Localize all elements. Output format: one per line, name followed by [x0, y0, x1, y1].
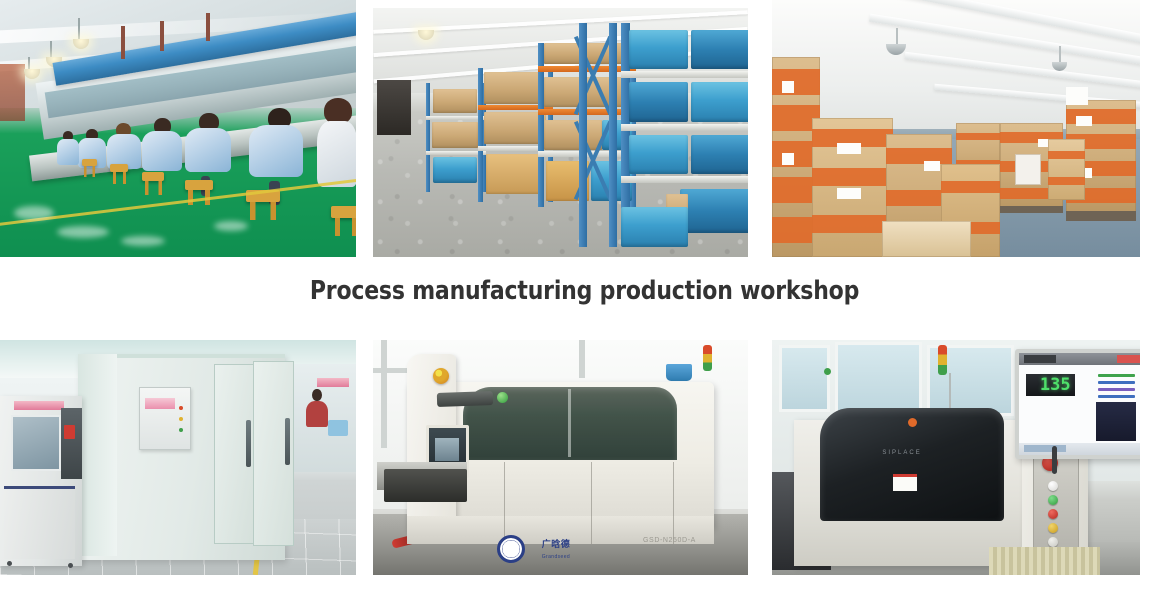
manufacturer-name-cn: 广晗德: [542, 537, 571, 550]
floor-tote: [621, 207, 689, 247]
worker: [57, 131, 79, 167]
floor-reflection: [57, 226, 109, 238]
worker: [317, 98, 356, 186]
board-conveyor: [989, 547, 1099, 575]
photo-test-chambers: [0, 340, 356, 575]
title-bar-alert: [1117, 355, 1139, 363]
pallet: [1000, 206, 1063, 214]
white-carton: [1015, 154, 1041, 185]
floor-reflection: [14, 206, 54, 220]
alarm-led: [179, 417, 183, 421]
stool: [110, 164, 128, 172]
white-button[interactable]: [1048, 481, 1058, 491]
floor-reflection: [121, 236, 165, 246]
blue-container: [666, 364, 692, 381]
power-led: [179, 406, 183, 410]
photo-smt-placement: SIPLACE 135: [772, 340, 1140, 575]
floor-reflection: [214, 221, 248, 231]
caster-wheel: [68, 563, 73, 568]
panel-label: [145, 398, 175, 409]
support-post: [121, 26, 125, 59]
preview-panel: [1096, 402, 1135, 441]
chamber-lower-door: [4, 486, 75, 560]
indicator-lamp: [824, 368, 831, 375]
blue-bin: [328, 420, 348, 436]
title-bar-field: [1024, 355, 1056, 363]
hood-seam: [568, 389, 571, 457]
monitor-stand: [1052, 446, 1057, 474]
numeric-readout-box: 135: [1026, 374, 1074, 396]
operator-monitor: 135: [1015, 349, 1140, 458]
carton-stack-front: [812, 118, 893, 257]
far-doorway: [377, 80, 411, 135]
door-handle[interactable]: [285, 418, 290, 465]
photo-rack-warehouse: [373, 8, 748, 257]
monitor-screen[interactable]: 135: [1019, 353, 1140, 454]
status-indicator-bars: [1098, 374, 1135, 398]
start-button[interactable]: [497, 392, 508, 403]
pallet-rack: [426, 83, 486, 193]
run-led: [179, 428, 183, 432]
photo-wave-solder: 广晗德 Grandseed GSD-N250D-A: [373, 340, 748, 575]
door-seam: [591, 462, 592, 544]
stool: [185, 180, 213, 190]
chamber-view-window: [11, 415, 61, 471]
controller-button[interactable]: [64, 425, 75, 439]
status-tower-light: [938, 345, 947, 375]
window: [779, 345, 829, 412]
chamber-controller[interactable]: [61, 408, 82, 479]
worker: [185, 113, 231, 179]
photo-carton-warehouse: [772, 0, 1140, 257]
door-seam: [504, 462, 505, 544]
stool: [331, 206, 356, 218]
pallet: [1066, 211, 1136, 221]
door-handle[interactable]: [246, 420, 251, 467]
machine-model-label: GSD-N250D-A: [643, 537, 696, 544]
carton-flat: [882, 221, 970, 257]
numeric-readout-value: 135: [1040, 375, 1071, 395]
worker: [249, 108, 303, 184]
taskbar[interactable]: [1019, 443, 1140, 455]
app-title-bar: [1019, 353, 1140, 364]
stool: [142, 172, 164, 181]
orange-knob[interactable]: [908, 418, 917, 427]
chamber-side-face: [78, 354, 117, 556]
worker: [142, 118, 182, 176]
lamp-rod: [78, 18, 80, 41]
chamber-nameplate: [14, 401, 64, 410]
warning-label: [893, 474, 917, 491]
far-wall: [0, 64, 25, 121]
wall-notice: [317, 378, 349, 387]
support-post: [206, 13, 210, 41]
window-frame: [579, 340, 585, 378]
manufacturer-name-en: Grandseed: [542, 554, 570, 560]
door-seam: [673, 462, 674, 544]
photo-assembly-line: [0, 0, 356, 257]
support-post: [160, 21, 164, 52]
manufacturer-logo-icon: [497, 535, 525, 563]
button-strip[interactable]: [437, 391, 494, 407]
machine-brand-label: SIPLACE: [882, 450, 921, 456]
conveyor-mechanism: [384, 469, 467, 502]
window-frame: [381, 340, 387, 448]
caster-wheel: [7, 561, 12, 566]
stool: [82, 159, 97, 166]
stack-label: [1066, 87, 1088, 105]
carton-stack: [1048, 139, 1085, 201]
status-tower-light: [703, 345, 712, 371]
chamber-control-box: [139, 387, 191, 450]
page-title: Process manufacturing production worksho…: [35, 276, 1134, 306]
rack-upright-frame: [579, 23, 617, 247]
person: [306, 401, 328, 427]
